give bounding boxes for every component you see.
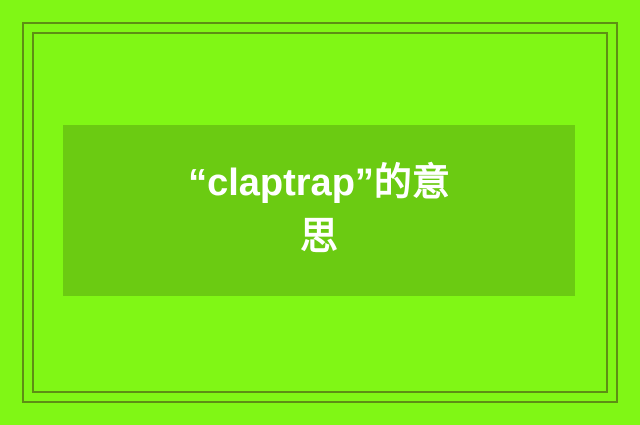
- page-title: “claptrap”的意思: [174, 157, 464, 265]
- page-canvas: “claptrap”的意思: [0, 0, 640, 425]
- title-card: “claptrap”的意思: [63, 125, 575, 296]
